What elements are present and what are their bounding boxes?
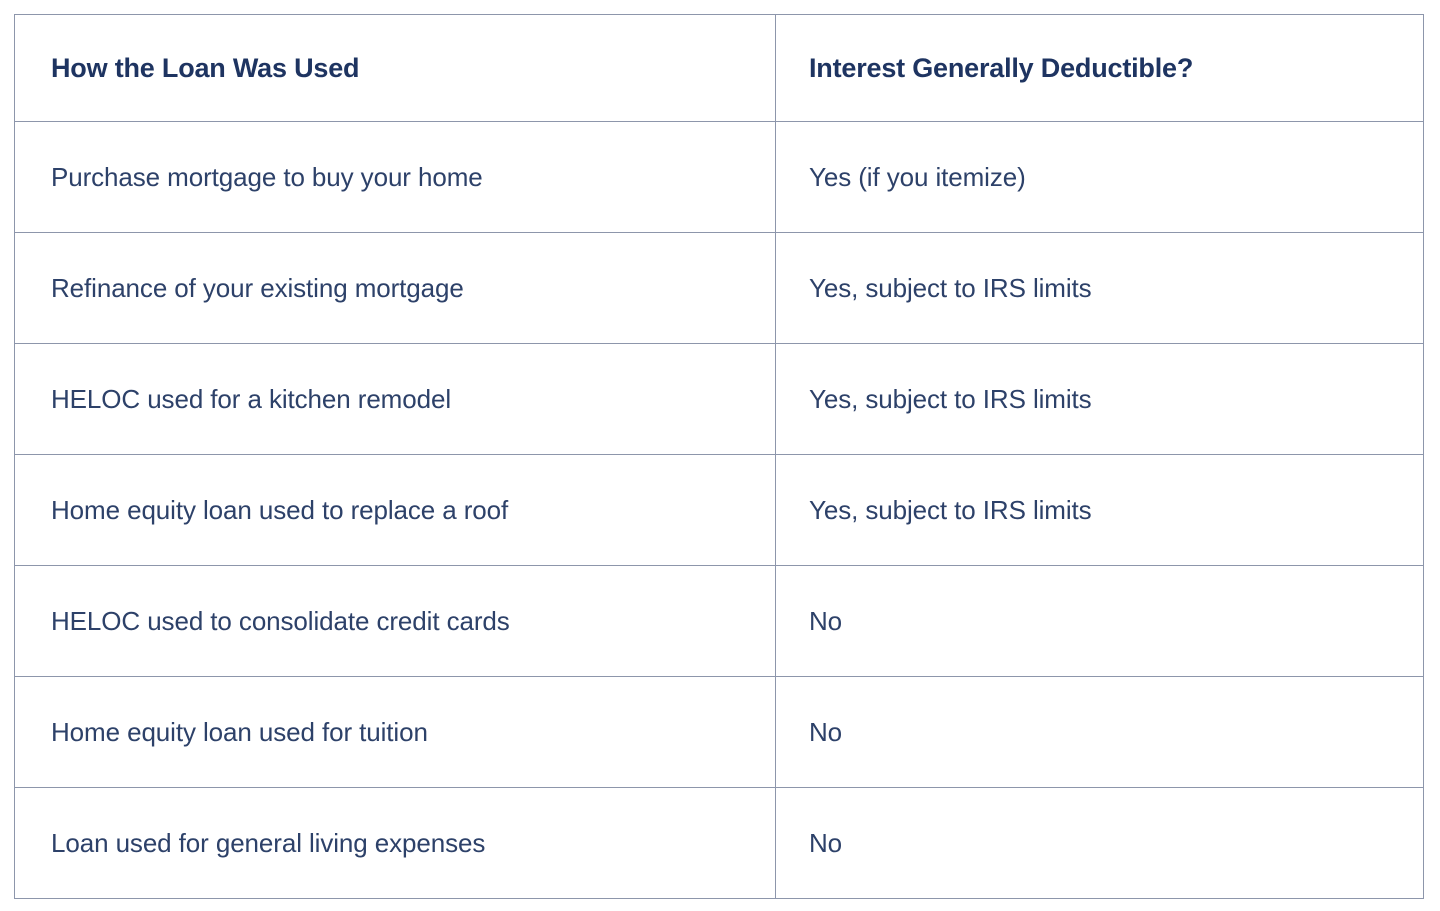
table-header: How the Loan Was Used Interest Generally… bbox=[15, 15, 1424, 122]
cell-deductible: No bbox=[776, 788, 1424, 899]
table-row: Purchase mortgage to buy your home Yes (… bbox=[15, 122, 1424, 233]
deduction-table: How the Loan Was Used Interest Generally… bbox=[14, 14, 1424, 899]
cell-deductible: Yes, subject to IRS limits bbox=[776, 233, 1424, 344]
cell-deductible: No bbox=[776, 677, 1424, 788]
cell-loan-use: Home equity loan used for tuition bbox=[15, 677, 776, 788]
table-row: Loan used for general living expenses No bbox=[15, 788, 1424, 899]
table-header-row: How the Loan Was Used Interest Generally… bbox=[15, 15, 1424, 122]
cell-deductible-text: Yes, subject to IRS limits bbox=[809, 495, 1403, 526]
cell-loan-use: Home equity loan used to replace a roof bbox=[15, 455, 776, 566]
cell-deductible: No bbox=[776, 566, 1424, 677]
cell-loan-use-text: HELOC used to consolidate credit cards bbox=[51, 606, 755, 637]
column-header-loan-use: How the Loan Was Used bbox=[15, 15, 776, 122]
cell-deductible: Yes, subject to IRS limits bbox=[776, 455, 1424, 566]
cell-deductible-text: No bbox=[809, 606, 1403, 637]
cell-deductible-text: Yes (if you itemize) bbox=[809, 162, 1403, 193]
cell-deductible-text: No bbox=[809, 828, 1403, 859]
cell-loan-use: HELOC used to consolidate credit cards bbox=[15, 566, 776, 677]
column-header-deductible-label: Interest Generally Deductible? bbox=[809, 53, 1403, 84]
cell-loan-use-text: HELOC used for a kitchen remodel bbox=[51, 384, 755, 415]
cell-loan-use-text: Loan used for general living expenses bbox=[51, 828, 755, 859]
cell-loan-use: Refinance of your existing mortgage bbox=[15, 233, 776, 344]
cell-deductible-text: Yes, subject to IRS limits bbox=[809, 384, 1403, 415]
cell-loan-use: HELOC used for a kitchen remodel bbox=[15, 344, 776, 455]
column-header-loan-use-label: How the Loan Was Used bbox=[51, 53, 755, 84]
cell-loan-use-text: Home equity loan used for tuition bbox=[51, 717, 755, 748]
cell-deductible: Yes (if you itemize) bbox=[776, 122, 1424, 233]
table-row: HELOC used for a kitchen remodel Yes, su… bbox=[15, 344, 1424, 455]
cell-loan-use: Loan used for general living expenses bbox=[15, 788, 776, 899]
table-body: Purchase mortgage to buy your home Yes (… bbox=[15, 122, 1424, 899]
cell-deductible: Yes, subject to IRS limits bbox=[776, 344, 1424, 455]
column-header-deductible: Interest Generally Deductible? bbox=[776, 15, 1424, 122]
cell-deductible-text: No bbox=[809, 717, 1403, 748]
cell-loan-use-text: Home equity loan used to replace a roof bbox=[51, 495, 755, 526]
table-row: Home equity loan used to replace a roof … bbox=[15, 455, 1424, 566]
table-row: Refinance of your existing mortgage Yes,… bbox=[15, 233, 1424, 344]
cell-loan-use: Purchase mortgage to buy your home bbox=[15, 122, 776, 233]
mortgage-interest-deduction-table: How the Loan Was Used Interest Generally… bbox=[14, 14, 1423, 893]
cell-loan-use-text: Purchase mortgage to buy your home bbox=[51, 162, 755, 193]
cell-deductible-text: Yes, subject to IRS limits bbox=[809, 273, 1403, 304]
cell-loan-use-text: Refinance of your existing mortgage bbox=[51, 273, 755, 304]
table-row: HELOC used to consolidate credit cards N… bbox=[15, 566, 1424, 677]
table-row: Home equity loan used for tuition No bbox=[15, 677, 1424, 788]
